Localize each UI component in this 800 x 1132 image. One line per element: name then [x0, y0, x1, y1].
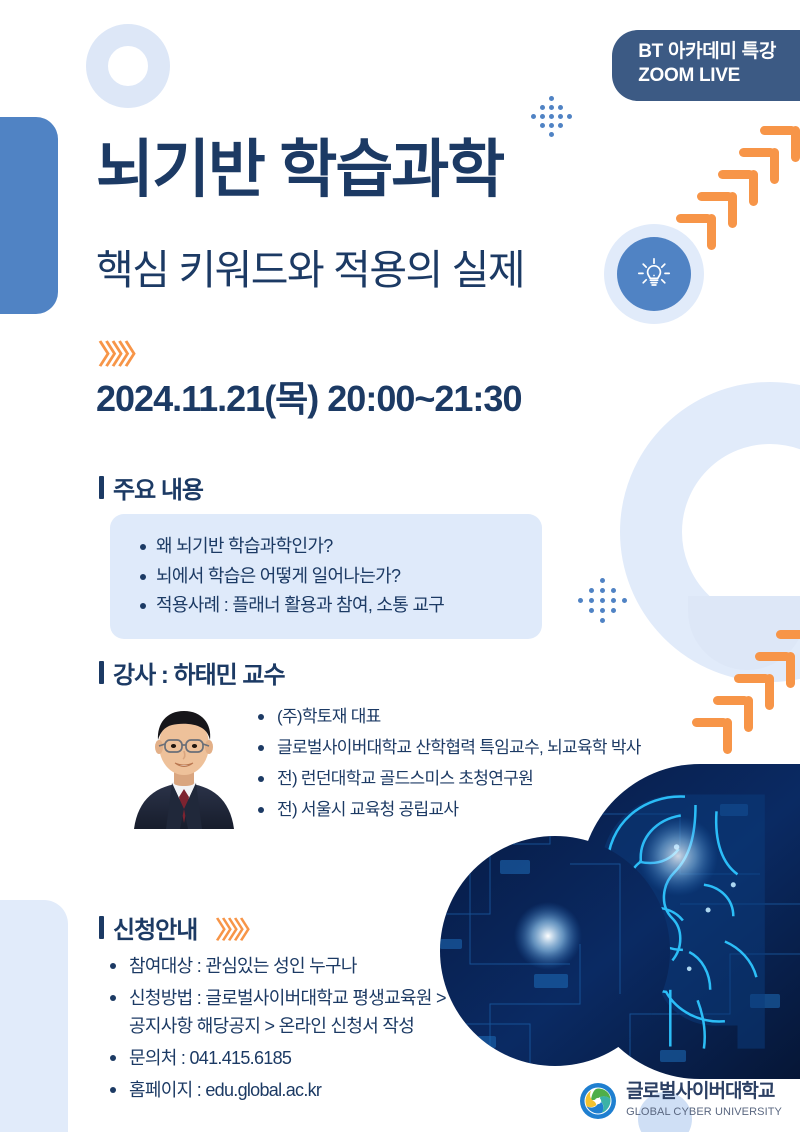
list-item: 뇌에서 학습은 어떻게 일어나는가? — [110, 562, 542, 592]
list-item: 왜 뇌기반 학습과학인가? — [110, 532, 542, 562]
logo-name-en: GLOBAL CYBER UNIVERSITY — [626, 1106, 782, 1118]
list-item: 참여대상 : 관심있는 성인 누구나 — [105, 952, 525, 980]
section-heading-content: 주요 내용 — [99, 470, 203, 505]
decor-rect-left-blue — [0, 117, 58, 314]
page-title: 뇌기반 학습과학 — [96, 139, 503, 202]
content-box: 왜 뇌기반 학습과학인가? 뇌에서 학습은 어떻게 일어나는가? 적용사례 : … — [110, 514, 542, 639]
logo-text: 글로벌사이버대학교 GLOBAL CYBER UNIVERSITY — [626, 1082, 782, 1120]
section-heading-apply-label: 신청안내 — [113, 910, 197, 945]
list-item: 홈페이지 : edu.global.ac.kr — [105, 1076, 525, 1104]
list-item: (주)학토재 대표 — [255, 702, 725, 733]
event-datetime: 2024.11.21(목) 20:00~21:30 — [96, 370, 521, 422]
list-item-line: 문의처 : 041.415.6185 — [129, 1044, 525, 1072]
heading-bar-icon — [99, 661, 104, 684]
apply-info-list: 참여대상 : 관심있는 성인 누구나 신청방법 : 글로벌사이버대학교 평생교육… — [105, 952, 525, 1108]
badge-line-1: BT 아카데미 특강 — [638, 40, 776, 64]
list-item-line: 신청방법 : 글로벌사이버대학교 평생교육원 > — [129, 984, 525, 1012]
globe-swirl-icon — [579, 1082, 617, 1120]
list-item-line: 홈페이지 : edu.global.ac.kr — [129, 1076, 525, 1104]
logo-name-ko: 글로벌사이버대학교 — [626, 1081, 774, 1102]
list-item: 적용사례 : 플래너 활용과 참여, 소통 교구 — [110, 591, 542, 621]
list-item: 신청방법 : 글로벌사이버대학교 평생교육원 > 공지사항 해당공지 > 온라인… — [105, 984, 525, 1040]
section-heading-speaker: 강사 : 하태민 교수 — [99, 655, 285, 690]
content-list: 왜 뇌기반 학습과학인가? 뇌에서 학습은 어떻게 일어나는가? 적용사례 : … — [110, 532, 542, 621]
event-poster: BT 아카데미 특강 ZOOM LIVE 뇌기반 학습과학 핵심 키워드와 적용… — [0, 0, 800, 1132]
zoom-live-badge: BT 아카데미 특강 ZOOM LIVE — [612, 30, 800, 101]
arrows-after-apply-heading: 〉〉〉〉〉 — [215, 910, 257, 945]
section-heading-apply: 신청안내 〉〉〉〉〉 — [99, 910, 257, 945]
page-subtitle: 핵심 키워드와 적용의 실제 — [96, 250, 524, 291]
university-logo: 글로벌사이버대학교 GLOBAL CYBER UNIVERSITY — [579, 1082, 782, 1120]
speaker-avatar — [122, 697, 246, 829]
list-item-line-2: 공지사항 해당공지 > 온라인 신청서 작성 — [129, 1012, 525, 1040]
list-item: 글로벌사이버대학교 산학협력 특임교수, 뇌교육학 박사 — [255, 733, 725, 764]
decor-rect-left-light — [0, 900, 68, 1132]
arrows-before-date: 〉〉〉〉〉 — [98, 333, 144, 372]
heading-bar-icon — [99, 916, 104, 939]
decor-chevrons-top-right — [676, 126, 800, 236]
list-item: 문의처 : 041.415.6185 — [105, 1044, 525, 1072]
section-heading-content-label: 주요 내용 — [113, 470, 203, 505]
decor-ring-top-left — [86, 24, 170, 108]
list-item-line: 참여대상 : 관심있는 성인 누구나 — [129, 952, 525, 980]
badge-line-2: ZOOM LIVE — [638, 64, 776, 88]
heading-bar-icon — [99, 476, 104, 499]
decor-dot-diamond-middle — [578, 578, 628, 623]
decor-dot-diamond-top — [531, 96, 572, 137]
section-heading-speaker-label: 강사 : 하태민 교수 — [113, 655, 285, 690]
